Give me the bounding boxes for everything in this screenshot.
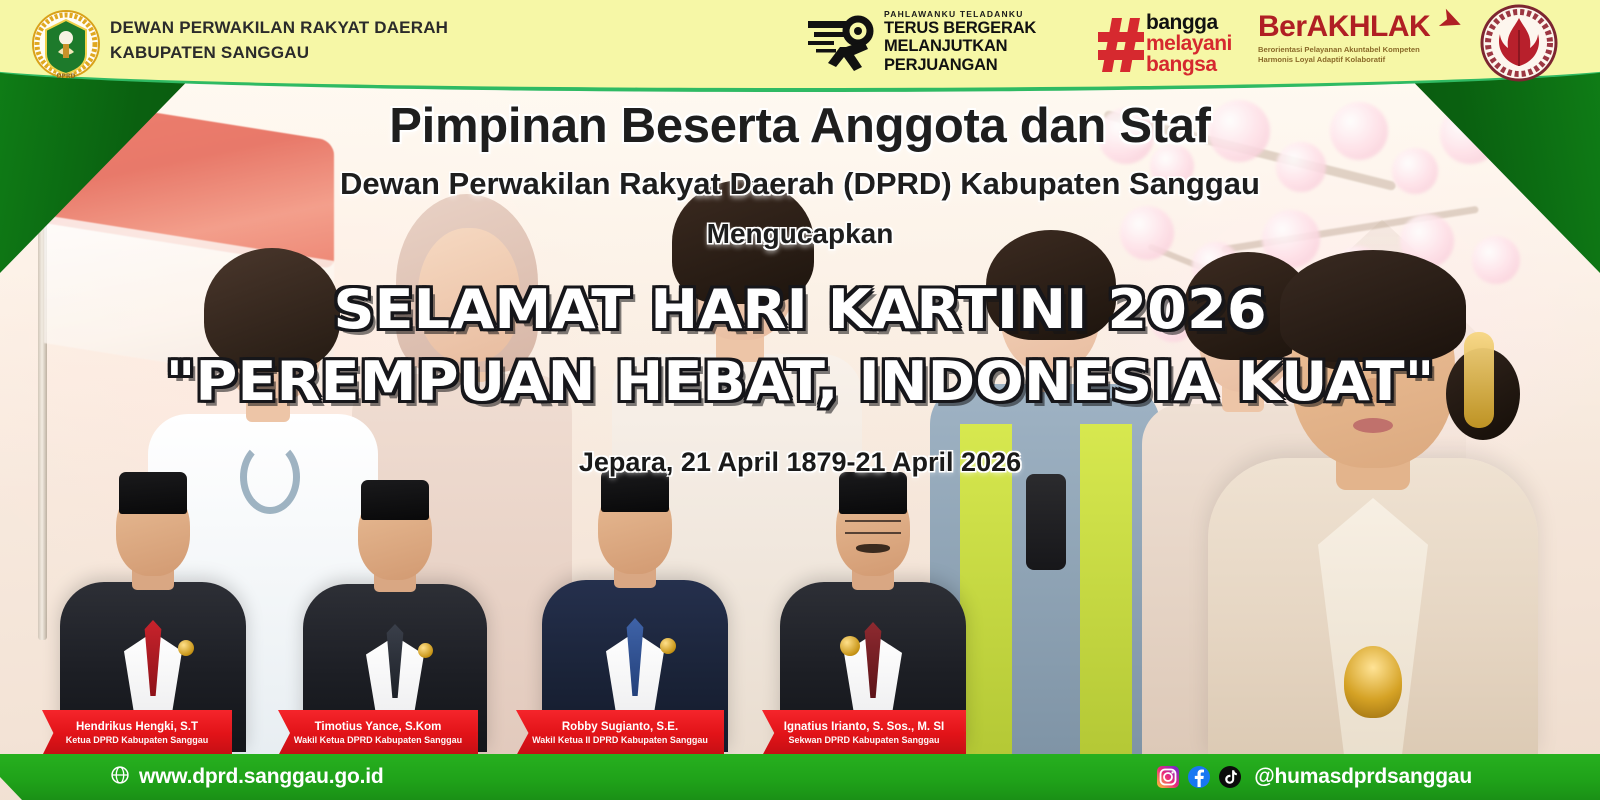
official-name: Timotius Yance, S.Kom — [315, 720, 442, 734]
bangga-melayani-bangsa-logo: bangga melayani bangsa — [1098, 12, 1248, 78]
headline-secondary: "PEREMPUAN HEBAT, INDONESIA KUAT" — [0, 350, 1600, 414]
name-ribbon: Timotius Yance, S.Kom Wakil Ketua DPRD K… — [278, 710, 478, 756]
official-name-ribbons: Hendrikus Hengki, S.T Ketua DPRD Kabupat… — [0, 710, 1600, 756]
terus-line-1: TERUS BERGERAK — [884, 19, 1036, 37]
bangga-word-2: melayani — [1146, 33, 1232, 54]
berakhlak-sub-1: Berorientasi Pelayanan Akuntabel Kompete… — [1258, 45, 1458, 55]
svg-text:DPRD: DPRD — [57, 73, 76, 80]
official-name: Hendrikus Hengki, S.T — [76, 720, 198, 734]
facebook-icon[interactable] — [1188, 766, 1210, 788]
glasses-icon — [845, 520, 901, 534]
official-role: Sekwan DPRD Kabupaten Sanggau — [788, 735, 939, 746]
footer-social-group[interactable]: @humasdprdsanggau — [1157, 754, 1472, 800]
terus-bergerak-logo: PAHLAWANKU TELADANKU TERUS BERGERAK MELA… — [806, 9, 1056, 79]
kartini-greeting-banner: DPRD DEWAN PERWAKILAN RAKYAT DAERAH KABU… — [0, 0, 1600, 800]
terus-line-3: PERJUANGAN — [884, 56, 1036, 74]
terus-line-2: MELANJUTKAN — [884, 37, 1036, 55]
mustache — [856, 544, 890, 553]
greeting-line-1: Pimpinan Beserta Anggota dan Staf — [0, 98, 1600, 154]
institution-line-2: KABUPATEN SANGGAU — [110, 41, 448, 66]
greeting-text-block: Pimpinan Beserta Anggota dan Staf Dewan … — [0, 98, 1600, 478]
kartini-brooch — [1344, 646, 1402, 718]
dprd-sanggau-crest-icon: DPRD — [32, 8, 100, 80]
berakhlak-wordmark: BerAKHLAK — [1258, 10, 1430, 43]
berakhlak-sub-2: Harmonis Loyal Adaptif Kolaboratif — [1258, 55, 1458, 65]
bangga-word-1: bangga — [1146, 12, 1232, 33]
official-name: Robby Sugianto, S.E. — [562, 720, 678, 734]
tiktok-icon[interactable] — [1219, 766, 1241, 788]
hashtag-icon — [1098, 16, 1146, 74]
terus-tagline: PAHLAWANKU TELADANKU — [884, 9, 1036, 19]
social-handle[interactable]: @humasdprdsanggau — [1254, 765, 1472, 789]
instagram-icon[interactable] — [1157, 766, 1179, 788]
footer-website-group[interactable]: www.dprd.sanggau.go.id — [110, 754, 383, 800]
official-role: Ketua DPRD Kabupaten Sanggau — [66, 735, 209, 746]
ministry-seal-icon — [1480, 4, 1558, 82]
website-url[interactable]: www.dprd.sanggau.go.id — [139, 765, 383, 789]
globe-icon — [110, 765, 130, 790]
institution-title: DEWAN PERWAKILAN RAKYAT DAERAH KABUPATEN… — [110, 16, 448, 65]
official-role: Wakil Ketua DPRD Kabupaten Sanggau — [294, 735, 462, 746]
name-ribbon: Hendrikus Hengki, S.T Ketua DPRD Kabupat… — [42, 710, 232, 756]
footer-bar: www.dprd.sanggau.go.id @humasdpr — [0, 754, 1600, 800]
commemoration-date: Jepara, 21 April 1879-21 April 2026 — [0, 447, 1600, 478]
greeting-line-2: Dewan Perwakilan Rakyat Daerah (DPRD) Ka… — [0, 166, 1600, 202]
institution-line-1: DEWAN PERWAKILAN RAKYAT DAERAH — [110, 16, 448, 41]
name-ribbon: Ignatius Irianto, S. Sos., M. SI Sekwan … — [762, 710, 966, 756]
name-ribbon: Robby Sugianto, S.E. Wakil Ketua II DPRD… — [516, 710, 724, 756]
official-role: Wakil Ketua II DPRD Kabupaten Sanggau — [532, 735, 708, 746]
headline-primary: SELAMAT HARI KARTINI 2026 — [0, 278, 1600, 342]
official-name: Ignatius Irianto, S. Sos., M. SI — [784, 720, 944, 734]
greeting-line-3: Mengucapkan — [0, 218, 1600, 250]
running-figure-icon — [806, 15, 878, 75]
bangga-word-3: bangsa — [1146, 54, 1232, 75]
berakhlak-logo: BerAKHLAK ➤ Berorientasi Pelayanan Akunt… — [1258, 12, 1458, 80]
